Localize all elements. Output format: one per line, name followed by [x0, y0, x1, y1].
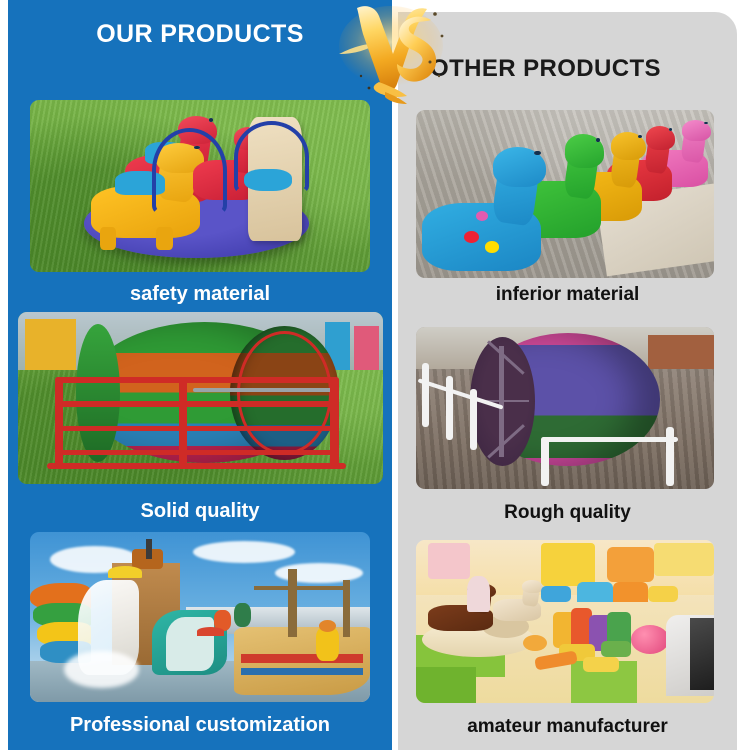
our-products-title: OUR PRODUCTS	[8, 20, 392, 49]
our-product-card-2[interactable]	[18, 312, 383, 484]
comparison-infographic: OUR PRODUCTS OTHER PRODUCTS	[0, 0, 750, 750]
other-product-caption-3: amateur manufacturer	[398, 716, 737, 738]
our-product-caption-3: Professional customization	[8, 714, 392, 737]
other-product-card-2[interactable]	[416, 327, 714, 489]
other-product-caption-1: inferior material	[398, 284, 737, 306]
our-product-image-2	[18, 312, 383, 484]
our-product-image-1	[30, 100, 370, 272]
our-product-caption-1: safety material	[8, 283, 392, 306]
other-product-image-1	[416, 110, 714, 278]
other-product-card-3[interactable]	[416, 540, 714, 703]
other-product-image-3	[416, 540, 714, 703]
other-product-image-2	[416, 327, 714, 489]
other-product-caption-2: Rough quality	[398, 502, 737, 524]
our-product-image-3	[30, 532, 370, 702]
other-products-title: OTHER PRODUCTS	[430, 55, 730, 83]
our-product-card-1[interactable]	[30, 100, 370, 272]
our-product-caption-2: Solid quality	[8, 500, 392, 523]
our-product-card-3[interactable]	[30, 532, 370, 702]
other-product-card-1[interactable]	[416, 110, 714, 278]
